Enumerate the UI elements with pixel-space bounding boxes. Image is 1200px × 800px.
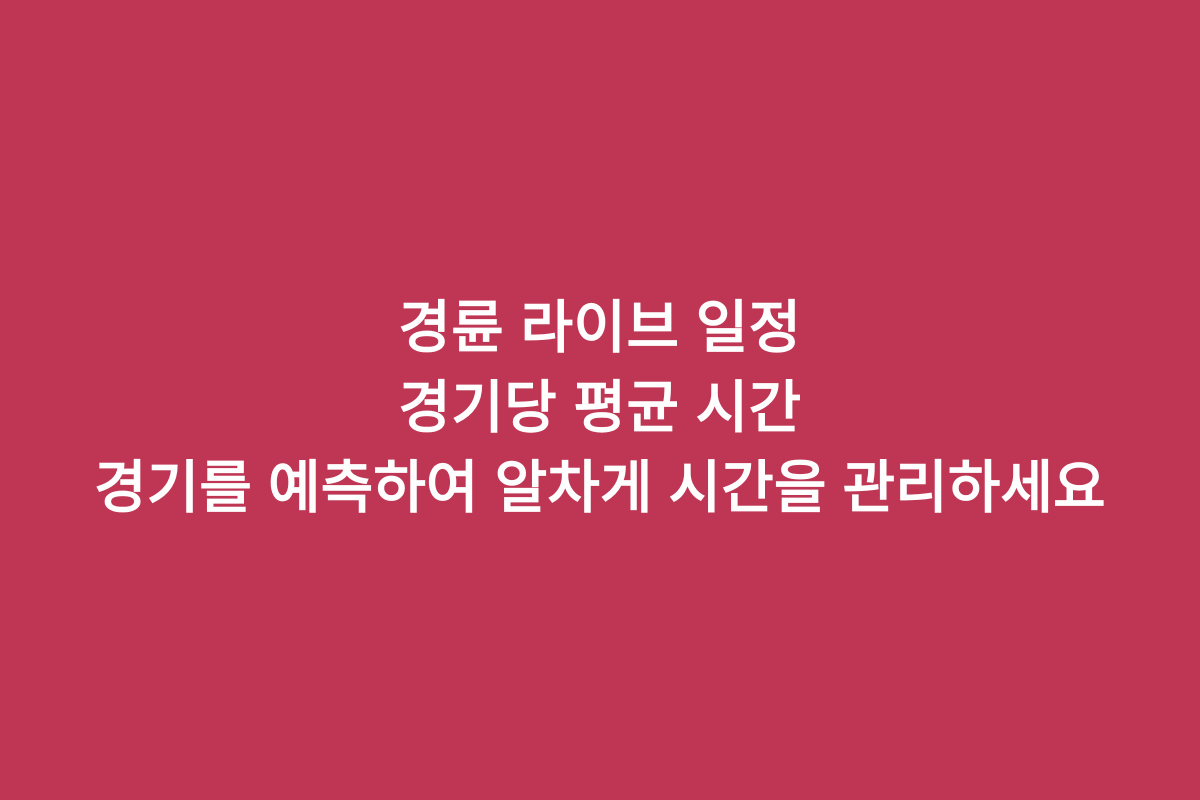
headline-line-subtitle: 경기당 평균 시간: [16, 368, 1184, 448]
headline-line-title: 경륜 라이브 일정: [16, 288, 1184, 368]
headline-line-tagline: 경기를 예측하여 알차게 시간을 관리하세요: [16, 448, 1184, 528]
promo-banner: 경륜 라이브 일정 경기당 평균 시간 경기를 예측하여 알차게 시간을 관리하…: [0, 0, 1200, 800]
headline-block: 경륜 라이브 일정 경기당 평균 시간 경기를 예측하여 알차게 시간을 관리하…: [0, 288, 1200, 528]
